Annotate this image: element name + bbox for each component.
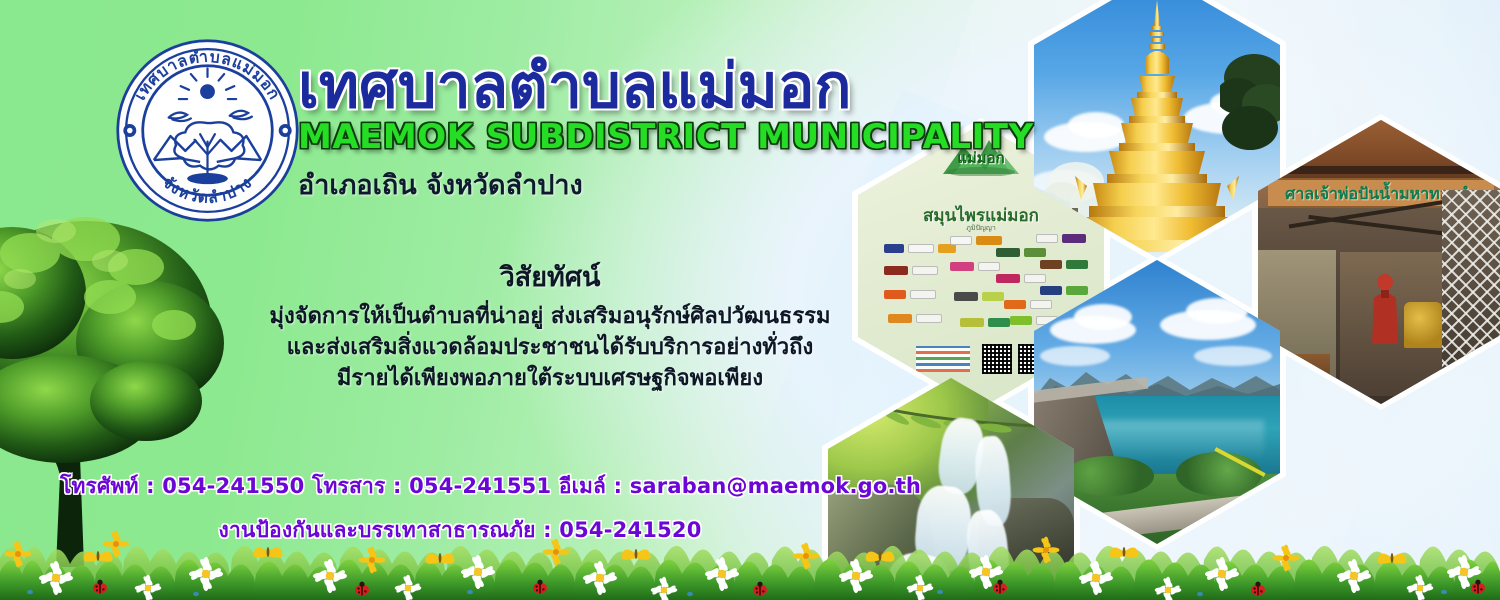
vision-heading: วิสัยทัศน์: [150, 255, 950, 298]
shrine-statue: [1370, 272, 1400, 344]
poster-product-row: [950, 236, 1002, 245]
shrine-offerings: [1404, 302, 1442, 348]
poster-product-row: [954, 292, 1004, 301]
contact-line-phone-fax-email[interactable]: โทรศัพท์ : 054-241550 โทรสาร : 054-24155…: [60, 470, 860, 503]
header-title-block: เทศบาลตำบลแม่มอก MAEMOK SUBDISTRICT MUNI…: [298, 55, 958, 206]
vision-line-3: มีรายได้เพียงพอภายใต้ระบบเศรษฐกิจพอเพียง: [150, 363, 950, 394]
district-subtitle: อำเภอเถิน จังหวัดลำปาง: [298, 163, 958, 206]
grass-flower-border: [0, 514, 1500, 600]
vision-line-1: มุ่งจัดการให้เป็นตำบลที่น่าอยู่ ส่งเสริม…: [150, 301, 950, 332]
dam-bushes: [1064, 456, 1154, 496]
municipality-banner: แม่มอก สมุนไพรแม่มอก ภูมิปัญญา: [0, 0, 1500, 600]
poster-product-row: [960, 318, 1010, 327]
cloud: [1040, 346, 1110, 366]
poster-product-row: [996, 274, 1046, 283]
poster-product-row: [996, 248, 1046, 257]
shrine-lattice-gate: [1442, 190, 1500, 404]
page-title-english: MAEMOK SUBDISTRICT MUNICIPALITY: [298, 117, 958, 157]
poster-product-row: [950, 262, 1000, 271]
poster-subtitle: ภูมิปัญญา: [858, 223, 1104, 234]
poster-qr-code: [982, 344, 1012, 374]
poster-product-row: [884, 244, 956, 253]
golden-pagoda-structure: [1067, 0, 1247, 252]
poster-product-row: [1040, 260, 1088, 269]
poster-product-row: [1004, 300, 1052, 309]
cloud: [1194, 346, 1272, 366]
shrine-roof: [1258, 120, 1500, 184]
poster-product-row: [1036, 234, 1086, 243]
vision-line-2: และส่งเสริมสิ่งแวดล้อมประชาชนได้รับบริกา…: [150, 332, 950, 363]
municipality-seal: เทศบาลตำบลแม่มอก จังหวัดลำปาง: [115, 38, 300, 223]
poster-product-row: [1040, 286, 1088, 295]
page-title-thai: เทศบาลตำบลแม่มอก: [298, 55, 958, 119]
vision-statement: วิสัยทัศน์ มุ่งจัดการให้เป็นตำบลที่น่าอย…: [150, 255, 950, 395]
dam-bushes: [1176, 452, 1262, 496]
cloud: [1074, 304, 1132, 330]
